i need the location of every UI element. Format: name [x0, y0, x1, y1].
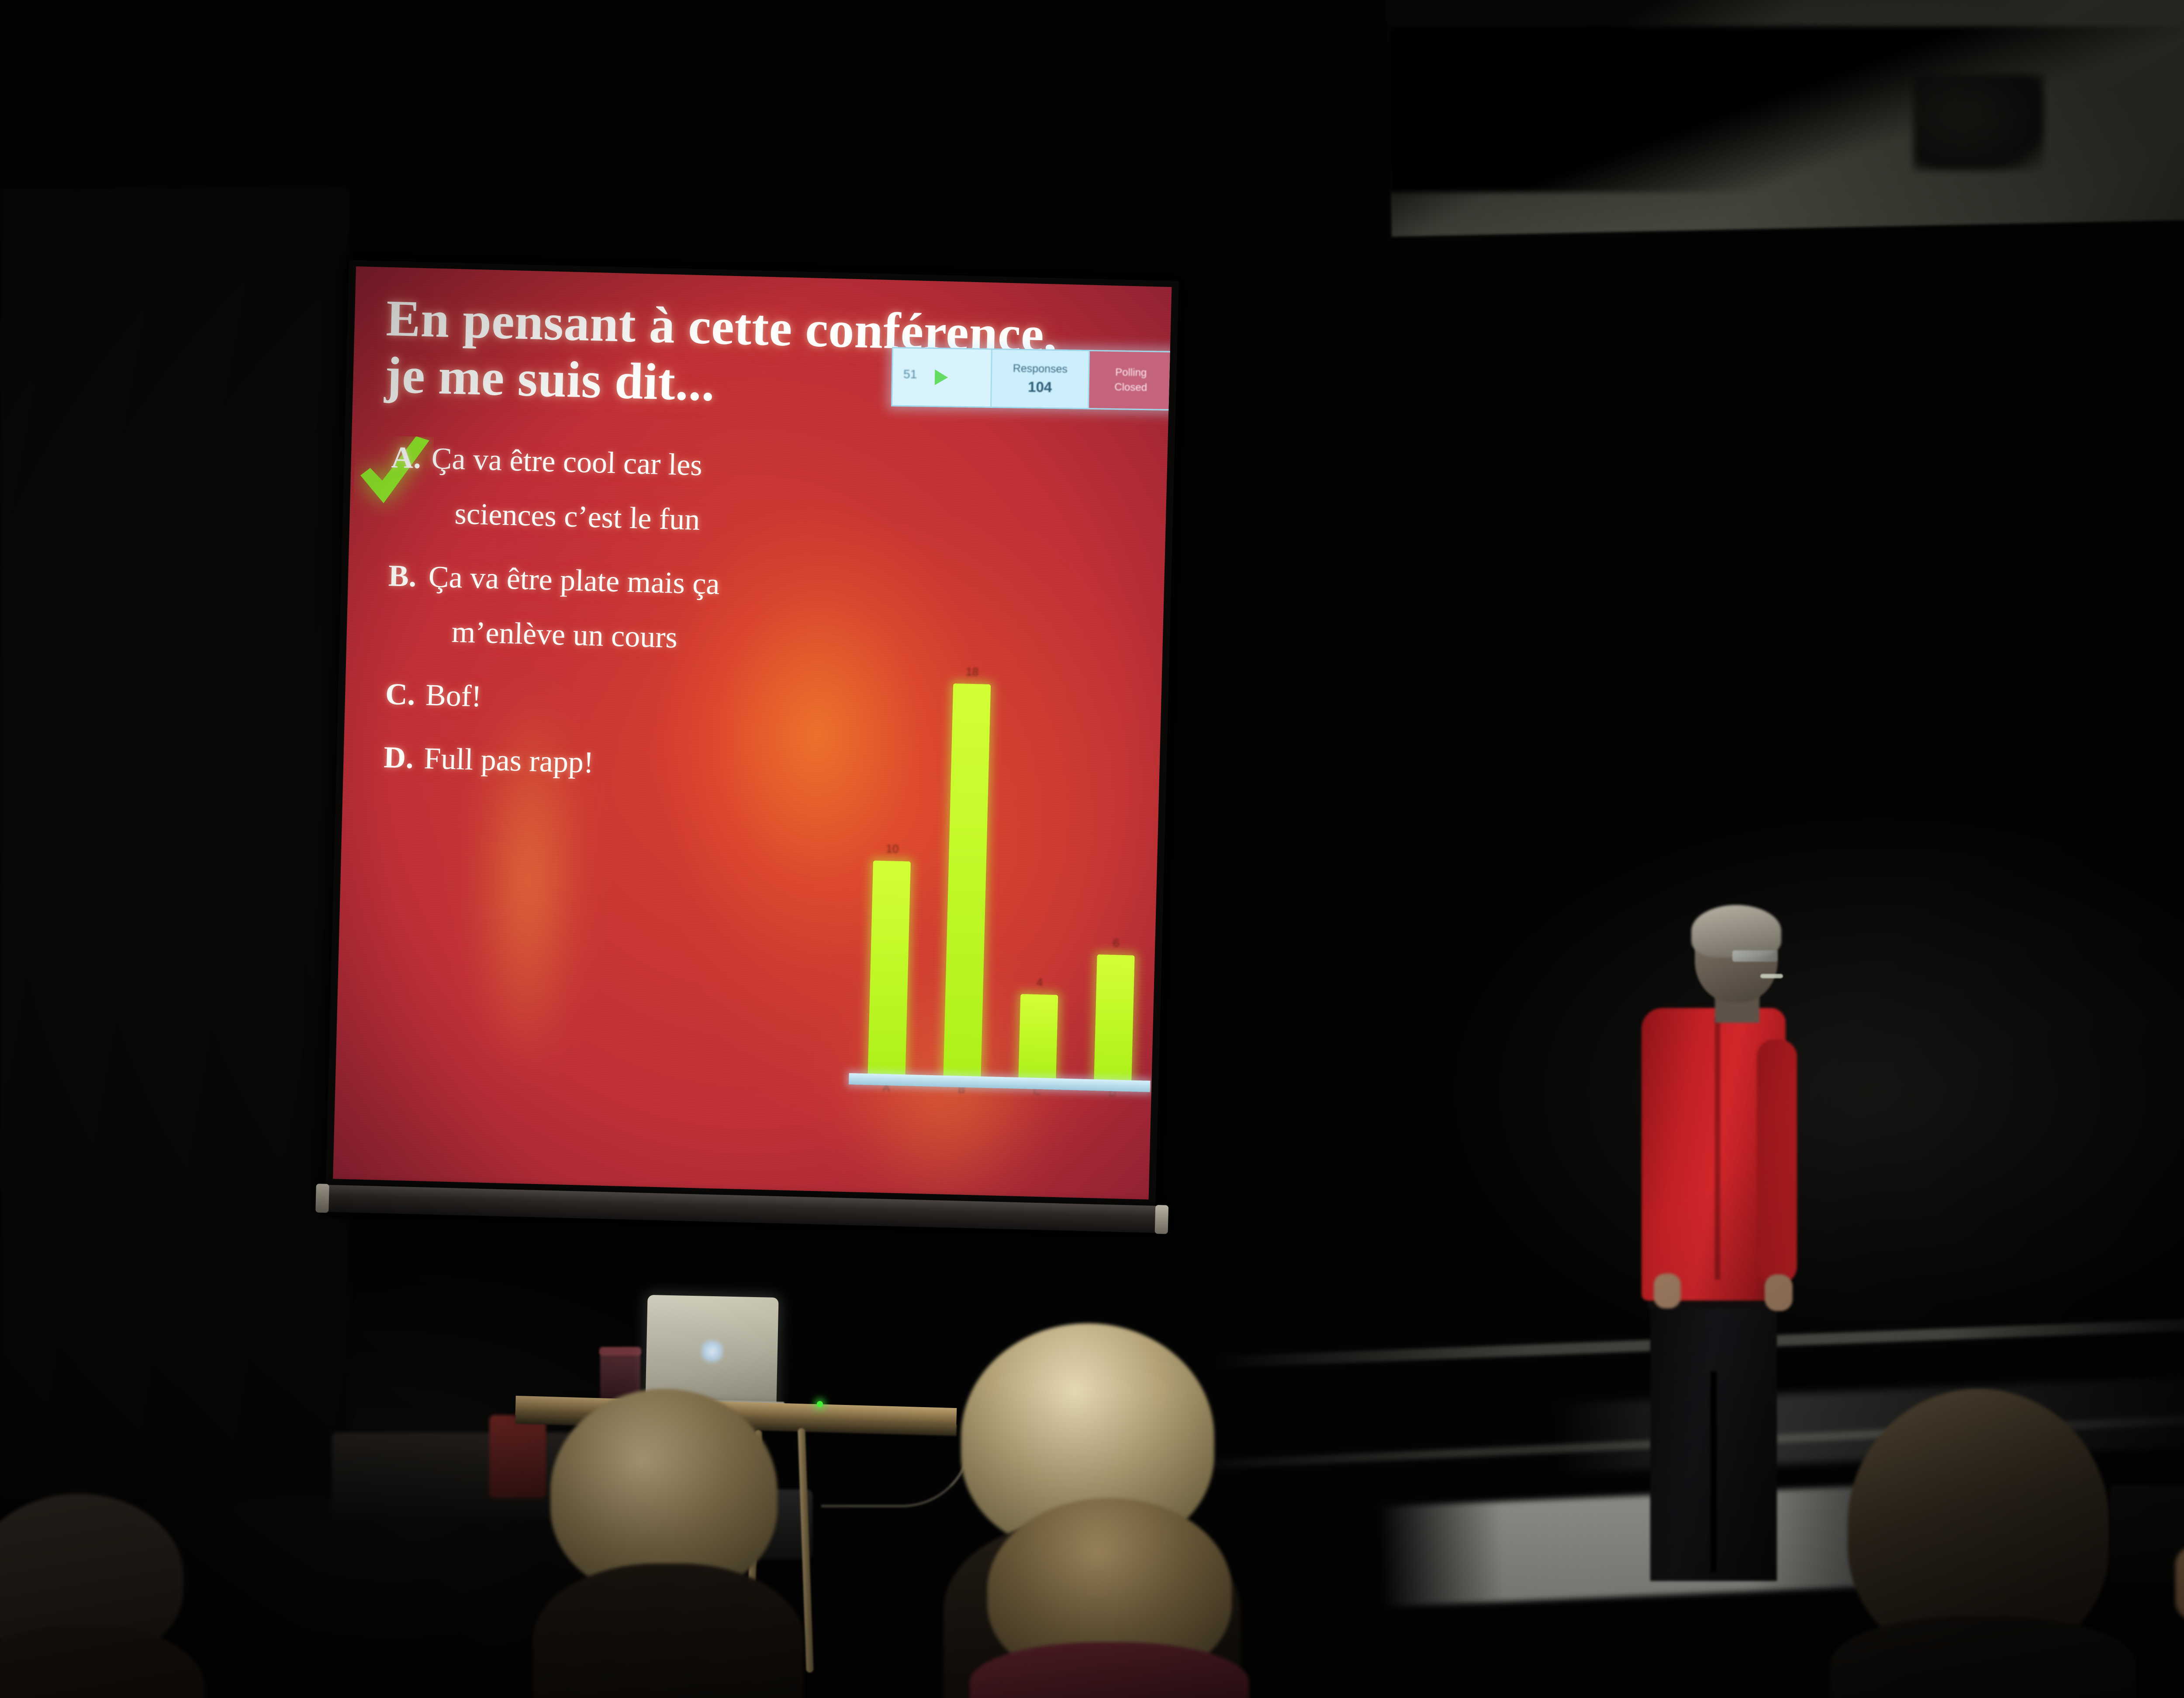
slide-options-list: A. Ça va être cool car les sciences c’es… [383, 442, 846, 796]
option-d: D. Full pas rapp! [384, 742, 838, 785]
option-b-line-2: m’enlève un cours [451, 617, 842, 658]
option-d-text: Full pas rapp! [424, 743, 839, 784]
presenter-leg-gap [1711, 1371, 1717, 1572]
countdown-timer-icon[interactable]: 51 [903, 367, 921, 387]
presenter-right-arm [1757, 1039, 1797, 1284]
responses-label: Responses [1013, 362, 1068, 376]
option-a-line-2: sciences c’est le fun [454, 498, 845, 539]
option-c-text: Bof! [425, 680, 840, 721]
presenter-left-hand [1654, 1273, 1681, 1308]
bar-value-c: 4 [1037, 976, 1043, 989]
option-a-text: Ça va être cool car les sciences c’est l… [430, 443, 846, 539]
bar-slot-c: 4 C [1000, 641, 1086, 1080]
desk-cup-rim [599, 1347, 641, 1356]
table-row [1019, 994, 1058, 1079]
ceiling-fixture-icon [1913, 74, 2044, 170]
bar-value-a: 10 [886, 842, 899, 856]
option-b: B. Ça va être plate mais ça m’enlève un … [387, 560, 843, 658]
audience-member-left-edge [0, 1494, 201, 1698]
audience-shoulders [533, 1563, 804, 1698]
ceiling-beam [1389, 26, 2184, 192]
option-c-letter: C. [385, 679, 426, 711]
option-b-line-1: Ça va être plate mais ça [428, 560, 720, 601]
option-d-letter: D. [384, 742, 425, 774]
table-row [943, 683, 991, 1077]
poll-results-bar-chart: 10 A 18 B 4 C 6 [849, 628, 1162, 1099]
bar-slot-d: 6 D [1075, 643, 1161, 1082]
toolbar-controls[interactable]: 51 [892, 349, 991, 407]
presentation-slide: En pensant à cette conférence, je me sui… [333, 266, 1171, 1200]
table-row [1094, 954, 1134, 1081]
headset-microphone-icon [1760, 974, 1783, 978]
polling-response-toolbar[interactable]: 51 Responses 104 Polling Closed [891, 347, 1171, 411]
option-a: A. Ça va être cool car les sciences c’es… [390, 442, 846, 539]
chart-bars: 10 A 18 B 4 C 6 [849, 637, 1161, 1081]
presentation-photo: En pensant à cette conférence, je me sui… [0, 0, 2184, 1698]
responses-counter: Responses 104 [990, 350, 1090, 408]
audience-shoulders [1830, 1616, 2136, 1698]
option-a-letter: A. [390, 442, 432, 529]
polling-status-badge[interactable]: Polling Closed [1089, 351, 1171, 409]
apple-logo-icon [701, 1340, 723, 1365]
bar-value-d: 6 [1113, 936, 1120, 949]
audience-handheld-device [2110, 1485, 2184, 1585]
presenter-on-stage [1629, 908, 1856, 1590]
presenter-hair [1691, 905, 1781, 957]
pull-down-projection-screen: En pensant à cette conférence, je me sui… [324, 260, 1205, 1286]
screen-roller-cap-right [1155, 1205, 1169, 1234]
presenter-right-hand [1765, 1274, 1793, 1311]
table-row [868, 860, 911, 1075]
option-b-letter: B. [387, 560, 429, 647]
bar-slot-a: 10 A [849, 637, 936, 1076]
wall-panel-left [0, 188, 349, 1498]
option-a-line-1: Ça va être cool car les [431, 442, 703, 482]
option-b-text: Ça va être plate mais ça m’enlève un cou… [427, 561, 843, 658]
polling-status-line-1: Polling [1115, 366, 1147, 379]
audience-member-brown-hair [970, 1498, 1249, 1698]
option-c: C. Bof! [385, 679, 840, 721]
audience-member-curly-hair [533, 1389, 804, 1698]
bar-value-b: 18 [966, 665, 979, 679]
presenter-shirt-placket [1715, 1018, 1720, 1280]
audience-member-right [1830, 1389, 2136, 1698]
screen-roller-cap-left [315, 1184, 329, 1213]
polling-status-line-2: Closed [1114, 381, 1147, 394]
responses-count: 104 [1028, 379, 1052, 396]
glasses-icon [1732, 950, 1778, 962]
bar-slot-b: 18 B [924, 639, 1011, 1078]
audience-shoulders [0, 1625, 205, 1698]
play-triangle-icon[interactable] [932, 368, 950, 387]
